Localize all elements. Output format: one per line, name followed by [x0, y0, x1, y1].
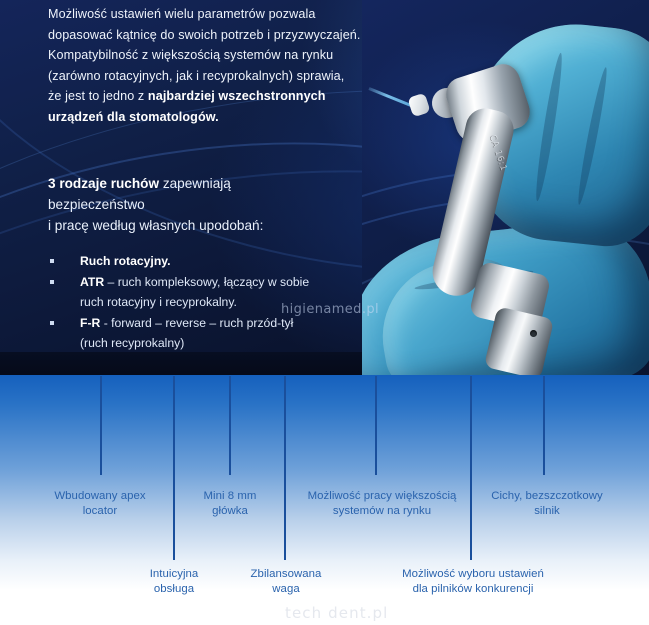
- feature-connector-line-intuicyjna: [173, 376, 175, 560]
- feature-connector-line-zbilansowana: [284, 376, 286, 560]
- headline-line-2: bezpieczeństwo: [48, 194, 388, 215]
- list-item: Ruch rotacyjny.: [48, 253, 388, 271]
- feature-connector-line-wiekszosc-sys: [375, 376, 377, 475]
- list-item-bold: ATR: [80, 275, 104, 289]
- watermark-top: higienamed.pl: [281, 302, 379, 317]
- intro-paragraph: Możliwość ustawień wielu parametrów pozw…: [48, 4, 388, 128]
- feature-label-line-2: główka: [178, 504, 282, 519]
- feature-label-silnik: Cichy, bezszczotkowysilnik: [473, 489, 621, 519]
- square-bullet-icon: [50, 280, 54, 284]
- headline-block: 3 rodzaje ruchów zapewniają bezpieczeńst…: [48, 173, 388, 236]
- feature-label-line-1: Wbudowany apex: [30, 489, 170, 504]
- feature-label-line-2: silnik: [473, 504, 621, 519]
- headline-rest: zapewniają: [159, 176, 231, 191]
- feature-label-line-2: dla pilników konkurencji: [383, 582, 563, 597]
- list-item-rest: - forward – reverse – ruch przód-tył: [100, 316, 293, 330]
- list-item: F-R - forward – reverse – ruch przód-tył: [48, 315, 388, 333]
- list-item-bold: Ruch rotacyjny.: [80, 254, 171, 268]
- feature-label-wiekszosc-sys: Możliwość pracy większościąsystemów na r…: [292, 489, 472, 519]
- list-item: ATR – ruch kompleksowy, łączący w sobie: [48, 274, 388, 292]
- feature-connector-line-silnik: [543, 376, 545, 475]
- intro-line-5: że jest to jedno z najbardziej wszechstr…: [48, 86, 388, 107]
- feature-label-zbilansowana: Zbilansowanawaga: [230, 567, 342, 597]
- feature-label-ustawienia-pil: Możliwość wyboru ustawieńdla pilników ko…: [383, 567, 563, 597]
- feature-label-line-1: Możliwość wyboru ustawień: [383, 567, 563, 582]
- intro-line-6-bold: urządzeń dla stomatologów.: [48, 110, 219, 124]
- handpiece-base: [484, 306, 554, 375]
- feature-label-line-1: Cichy, bezszczotkowy: [473, 489, 621, 504]
- feature-label-line-2: waga: [230, 582, 342, 597]
- square-bullet-icon: [50, 259, 54, 263]
- intro-line-3: Kompatybilność z większością systemów na…: [48, 45, 388, 66]
- intro-line-5-bold: najbardziej wszechstronnych: [148, 89, 326, 103]
- intro-line-4: (zarówno rotacyjnych, jak i recyprokalny…: [48, 66, 388, 87]
- list-item-rest: – ruch kompleksowy, łączący w sobie: [104, 275, 309, 289]
- feature-label-line-1: Możliwość pracy większością: [292, 489, 472, 504]
- promo-page: CA 16:1 Możliwość ustawień wielu paramet…: [0, 0, 649, 625]
- feature-label-line-1: Intuicyjna: [118, 567, 230, 582]
- headline-strong: 3 rodzaje ruchów: [48, 176, 159, 191]
- feature-connector-line-apex-locator: [100, 376, 102, 475]
- watermark-bottom: tech dent.pl: [285, 604, 388, 622]
- feature-label-line-2: obsługa: [118, 582, 230, 597]
- intro-line-2: dopasować kątnicę do swoich potrzeb i pr…: [48, 25, 388, 46]
- feature-label-line-2: locator: [30, 504, 170, 519]
- feature-label-mini-glowka: Mini 8 mmgłówka: [178, 489, 282, 519]
- handpiece-port: [530, 330, 537, 337]
- intro-line-6: urządzeń dla stomatologów.: [48, 107, 388, 128]
- feature-label-line-1: Zbilansowana: [230, 567, 342, 582]
- feature-connector-line-mini-glowka: [229, 376, 231, 475]
- intro-line-5-plain: że jest to jedno z: [48, 89, 148, 103]
- feature-label-line-1: Mini 8 mm: [178, 489, 282, 504]
- feature-connector-line-ustawienia-pil: [470, 376, 472, 560]
- list-item-bold: F-R: [80, 316, 100, 330]
- intro-line-1: Możliwość ustawień wielu parametrów pozw…: [48, 4, 388, 25]
- feature-label-intuicyjna: Intuicyjnaobsługa: [118, 567, 230, 597]
- square-bullet-icon: [50, 321, 54, 325]
- headline-line-3: i pracę według własnych upodobań:: [48, 215, 388, 236]
- feature-label-apex-locator: Wbudowany apexlocator: [30, 489, 170, 519]
- feature-label-line-2: systemów na rynku: [292, 504, 472, 519]
- product-photo: CA 16:1: [362, 0, 649, 375]
- list-item-subline: (ruch recyprokalny): [48, 335, 388, 353]
- headline-line-1: 3 rodzaje ruchów zapewniają: [48, 173, 388, 194]
